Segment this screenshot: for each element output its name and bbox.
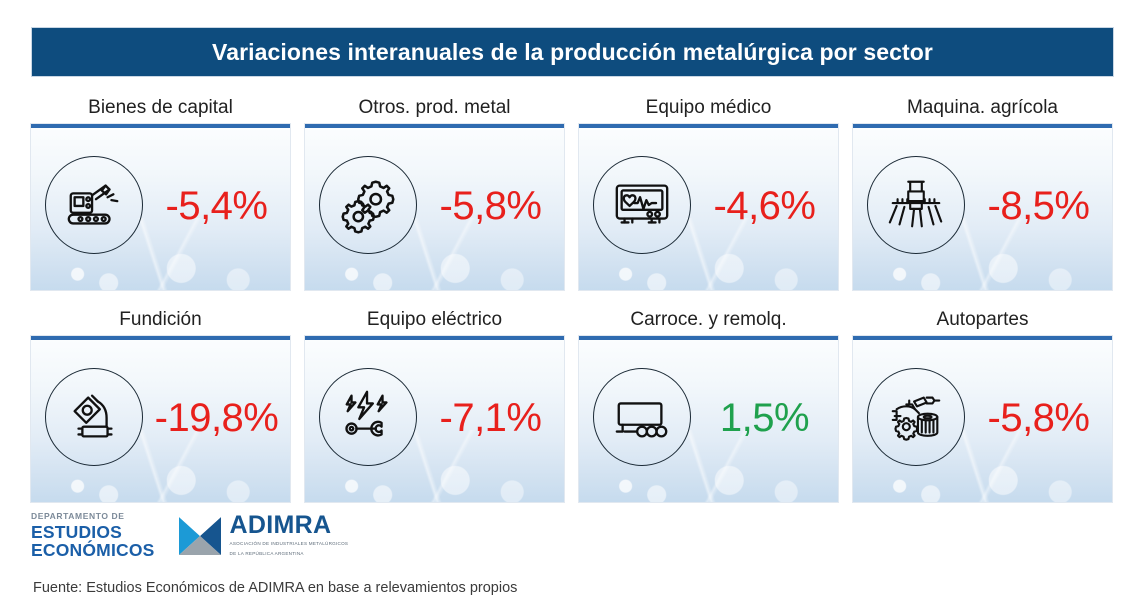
trailer-icon	[593, 368, 691, 466]
adimra-mark-icon	[179, 515, 221, 557]
card-value: -19,8%	[143, 396, 290, 441]
card-value: -5,8%	[965, 396, 1112, 441]
footer: DEPARTAMENTO DE ESTUDIOS ECONÓMICOS ADIM…	[0, 508, 1140, 616]
card-row: Bienes de capital	[0, 92, 1140, 304]
sector-card-grid: Bienes de capital	[0, 92, 1140, 516]
dept-line-1: DEPARTAMENTO DE	[31, 512, 155, 521]
card-value: 1,5%	[691, 396, 838, 441]
sector-card-carroce-y-remolq[interactable]: Carroce. y remolq. 1,5%	[579, 304, 838, 502]
card-body: -5,8%	[305, 124, 564, 290]
sector-card-autopartes[interactable]: Autopartes	[853, 304, 1112, 502]
card-row: Fundición -19,8%	[0, 304, 1140, 516]
card-value: -8,5%	[965, 184, 1112, 229]
foundry-ladle-icon	[45, 368, 143, 466]
agricultural-sprayer-icon	[867, 156, 965, 254]
card-title: Maquina. agrícola	[853, 92, 1112, 124]
industrial-robot-icon	[45, 156, 143, 254]
card-title: Otros. prod. metal	[305, 92, 564, 124]
card-body: -5,4%	[31, 124, 290, 290]
sector-card-equipo-electrico[interactable]: Equipo eléctrico -7,1%	[305, 304, 564, 502]
gears-icon	[319, 156, 417, 254]
autoparts-icon	[867, 368, 965, 466]
card-value: -5,8%	[417, 184, 564, 229]
card-body: -4,6%	[579, 124, 838, 290]
sector-card-equipo-medico[interactable]: Equipo médico -4,6%	[579, 92, 838, 290]
adimra-subtitle-1: ASOCIACIÓN DE INDUSTRIALES METALÚRGICOS	[230, 541, 349, 548]
dept-line-3: ECONÓMICOS	[31, 542, 155, 560]
card-body: -19,8%	[31, 336, 290, 502]
adimra-subtitle-2: DE LA REPÚBLICA ARGENTINA	[230, 551, 349, 558]
card-title: Fundición	[31, 304, 290, 336]
infographic-sheet: Variaciones interanuales de la producció…	[0, 0, 1140, 616]
card-body: -7,1%	[305, 336, 564, 502]
dept-line-2: ESTUDIOS	[31, 524, 155, 542]
card-body: -5,8%	[853, 336, 1112, 502]
source-note: Fuente: Estudios Económicos de ADIMRA en…	[33, 580, 517, 596]
card-value: -7,1%	[417, 396, 564, 441]
card-value: -5,4%	[143, 184, 290, 229]
card-body: -8,5%	[853, 124, 1112, 290]
page-title: Variaciones interanuales de la producció…	[212, 39, 933, 66]
sector-card-maquina-agricola[interactable]: Maquina. agrícola -8,5%	[853, 92, 1112, 290]
card-title: Equipo eléctrico	[305, 304, 564, 336]
departamento-estudios-economicos-logo: DEPARTAMENTO DE ESTUDIOS ECONÓMICOS	[31, 512, 155, 560]
card-title: Bienes de capital	[31, 92, 290, 124]
sector-card-fundicion[interactable]: Fundición -19,8%	[31, 304, 290, 502]
card-title: Carroce. y remolq.	[579, 304, 838, 336]
adimra-name: ADIMRA	[230, 513, 349, 538]
card-value: -4,6%	[691, 184, 838, 229]
lightning-wrench-icon	[319, 368, 417, 466]
card-title: Autopartes	[853, 304, 1112, 336]
card-title: Equipo médico	[579, 92, 838, 124]
title-bar: Variaciones interanuales de la producció…	[31, 27, 1114, 77]
sector-card-bienes-de-capital[interactable]: Bienes de capital	[31, 92, 290, 290]
logo-group: DEPARTAMENTO DE ESTUDIOS ECONÓMICOS ADIM…	[31, 512, 348, 560]
card-body: 1,5%	[579, 336, 838, 502]
adimra-logo: ADIMRA ASOCIACIÓN DE INDUSTRIALES METALÚ…	[179, 513, 349, 558]
ecg-monitor-icon	[593, 156, 691, 254]
sector-card-otros-prod-metal[interactable]: Otros. prod. metal -5,8%	[305, 92, 564, 290]
